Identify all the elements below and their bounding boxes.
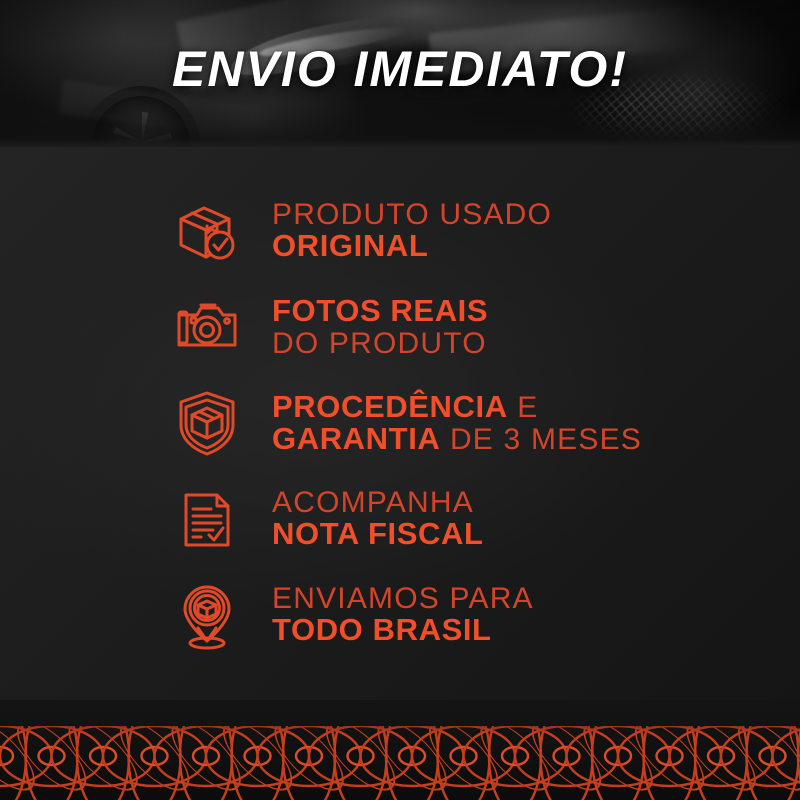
- feature-line-2: ORIGINAL: [272, 230, 552, 262]
- promo-banner: ENVIO IMEDIATO! PRODUTO USADO ORIGINAL: [0, 0, 800, 800]
- feature-line-2: TODO BRASIL: [272, 614, 534, 646]
- feature-line-1-light: E: [508, 391, 539, 424]
- feature-line-2-light: DE 3 MESES: [440, 423, 642, 456]
- feature-line-1-bold: PROCEDÊNCIA: [272, 389, 508, 424]
- feature-list: PRODUTO USADO ORIGINAL FOTOS REAIS DO: [0, 147, 800, 715]
- feature-text-block: PROCEDÊNCIA E GARANTIA DE 3 MESES: [272, 391, 642, 455]
- feature-line-1: ENVIAMOS PARA: [272, 583, 534, 614]
- feature-text-block: PRODUTO USADO ORIGINAL: [272, 199, 552, 262]
- location-pin-box-icon: [168, 579, 246, 651]
- feature-row-fotos-reais: FOTOS REAIS DO PRODUTO: [0, 279, 800, 375]
- feature-line-2-bold: GARANTIA: [272, 421, 440, 456]
- camera-icon: [168, 291, 246, 363]
- invoice-document-icon: [168, 483, 246, 555]
- footer-decorative-pattern: [0, 700, 800, 800]
- feature-line-2: NOTA FISCAL: [272, 518, 484, 550]
- feature-text-block: FOTOS REAIS DO PRODUTO: [272, 295, 488, 358]
- feature-line-1: PRODUTO USADO: [272, 199, 552, 230]
- feature-line-1: PROCEDÊNCIA E: [272, 391, 642, 423]
- shield-box-icon: [168, 387, 246, 459]
- feature-line-1: FOTOS REAIS: [272, 295, 488, 327]
- feature-line-1: ACOMPANHA: [272, 487, 484, 518]
- box-check-icon: [168, 195, 246, 267]
- feature-row-nota-fiscal: ACOMPANHA NOTA FISCAL: [0, 471, 800, 567]
- banner-title: ENVIO IMEDIATO!: [0, 44, 800, 94]
- feature-row-produto-usado-original: PRODUTO USADO ORIGINAL: [0, 183, 800, 279]
- feature-line-2: DO PRODUTO: [272, 328, 488, 359]
- feature-row-todo-brasil: ENVIAMOS PARA TODO BRASIL: [0, 567, 800, 663]
- feature-text-block: ACOMPANHA NOTA FISCAL: [272, 487, 484, 550]
- feature-text-block: ENVIAMOS PARA TODO BRASIL: [272, 583, 534, 646]
- feature-row-procedencia-garantia: PROCEDÊNCIA E GARANTIA DE 3 MESES: [0, 375, 800, 471]
- feature-line-2: GARANTIA DE 3 MESES: [272, 423, 642, 455]
